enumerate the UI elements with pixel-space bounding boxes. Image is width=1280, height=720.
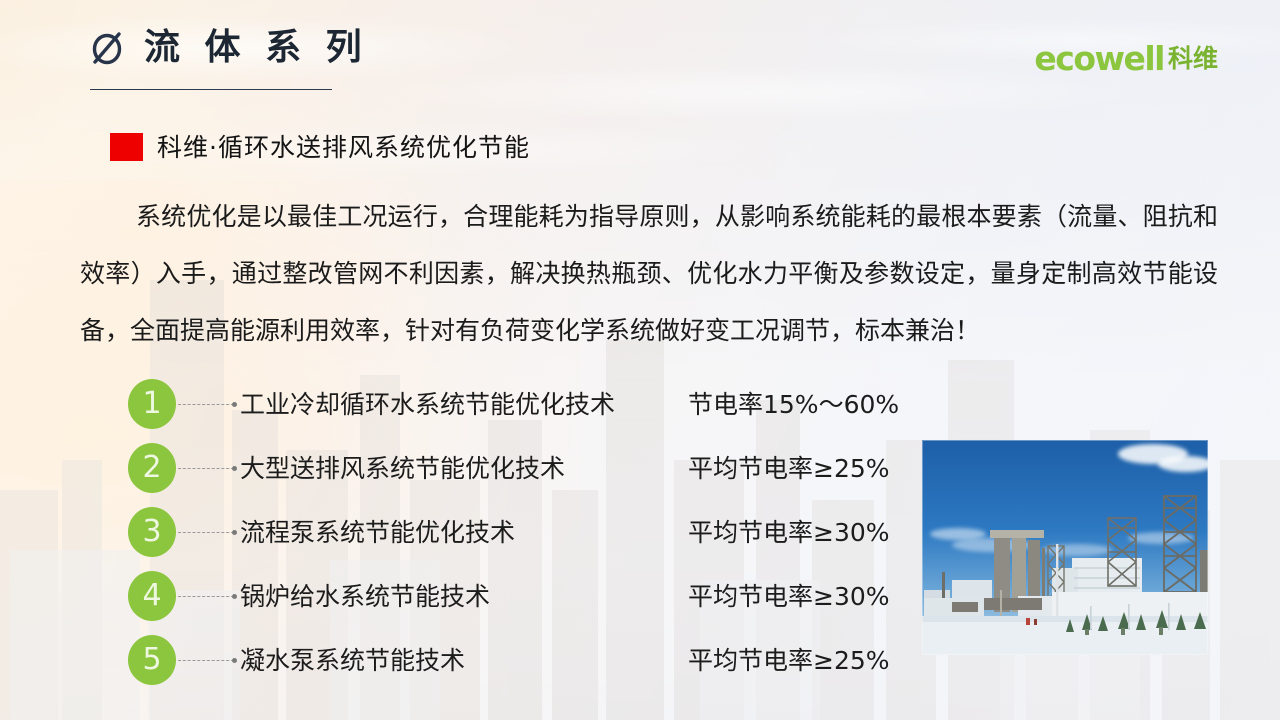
list-item-value: 平均节电率≥30% (688, 520, 890, 545)
photo-border (922, 440, 1208, 655)
list-item-label: 大型送排风系统节能优化技术 (240, 456, 565, 481)
connector-line (178, 404, 234, 405)
list-item-label: 凝水泵系统节能技术 (240, 648, 465, 673)
connector-line (178, 596, 234, 597)
list-item-label: 锅炉给水系统节能技术 (240, 584, 490, 609)
list-item-value: 平均节电率≥25% (688, 648, 890, 673)
list-item-number: 4 (128, 571, 176, 621)
list-item: 5 凝水泵系统节能技术 平均节电率≥25% (128, 628, 928, 692)
list-item-number: 1 (128, 379, 176, 429)
section-title: 科维·循环水送排风系统优化节能 (157, 135, 530, 160)
connector-line (178, 532, 234, 533)
list-item: 3 流程泵系统节能优化技术 平均节电率≥30% (128, 500, 928, 564)
list-item-number: 5 (128, 635, 176, 685)
connector-line (178, 660, 234, 661)
diameter-symbol-icon (88, 28, 126, 68)
technology-list: 1 工业冷却循环水系统节能优化技术 节电率15%～60% 2 大型送排风系统节能… (128, 372, 928, 692)
page-title: 流 体 系 列 (144, 30, 368, 66)
list-item-value: 节电率15%～60% (688, 392, 899, 417)
list-item-label: 工业冷却循环水系统节能优化技术 (240, 392, 615, 417)
slide: 流 体 系 列 ecowell 科维 科维·循环水送排风系统优化节能 系统优化是… (0, 0, 1280, 720)
list-item: 4 锅炉给水系统节能技术 平均节电率≥30% (128, 564, 928, 628)
list-item-number: 3 (128, 507, 176, 557)
logo-chinese-name: 科维 (1168, 46, 1218, 71)
title-row: 流 体 系 列 (88, 28, 368, 68)
red-square-bullet-icon (110, 133, 143, 161)
body-paragraph: 系统优化是以最佳工况运行，合理能耗为指导原则，从影响系统能耗的最根本要素（流量、… (80, 188, 1218, 359)
list-item-label: 流程泵系统节能优化技术 (240, 520, 515, 545)
list-item-number: 2 (128, 443, 176, 493)
list-item: 2 大型送排风系统节能优化技术 平均节电率≥25% (128, 436, 928, 500)
logo-wordmark: ecowell (1034, 42, 1164, 75)
connector-line (178, 468, 234, 469)
list-item-value: 平均节电率≥25% (688, 456, 890, 481)
list-item: 1 工业冷却循环水系统节能优化技术 节电率15%～60% (128, 372, 928, 436)
plant-photo (922, 440, 1208, 655)
title-underline (90, 89, 332, 90)
list-item-value: 平均节电率≥30% (688, 584, 890, 609)
slide-header: 流 体 系 列 ecowell 科维 (0, 0, 1280, 110)
section-heading: 科维·循环水送排风系统优化节能 (110, 133, 530, 161)
ecowell-logo: ecowell 科维 (1034, 42, 1218, 75)
